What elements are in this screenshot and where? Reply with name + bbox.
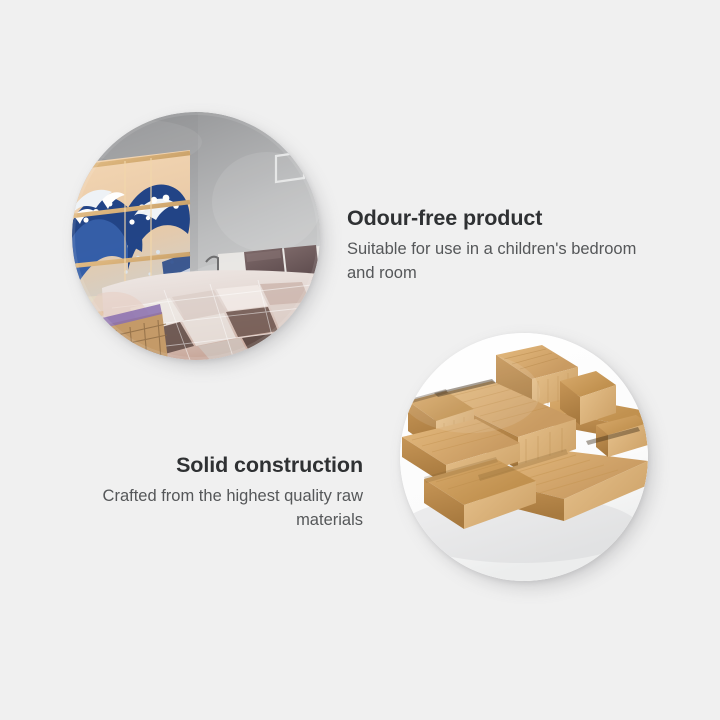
feature-description-odour-free: Suitable for use in a children's bedroom… (347, 238, 647, 286)
feature-text-odour-free: Odour-free product Suitable for use in a… (347, 206, 647, 286)
feature-text-solid-construction: Solid construction Crafted from the high… (63, 453, 363, 533)
feature-image-stacked-timber-beams (400, 333, 648, 581)
bedroom-scene-illustration (72, 112, 320, 360)
timber-stack-illustration (400, 333, 648, 581)
infographic-canvas: Odour-free product Suitable for use in a… (0, 0, 720, 720)
feature-heading-solid-construction: Solid construction (63, 453, 363, 478)
feature-heading-odour-free: Odour-free product (347, 206, 647, 231)
feature-description-solid-construction: Crafted from the highest quality raw mat… (63, 485, 363, 533)
feature-image-bedroom-with-wave-room-divider (72, 112, 320, 360)
